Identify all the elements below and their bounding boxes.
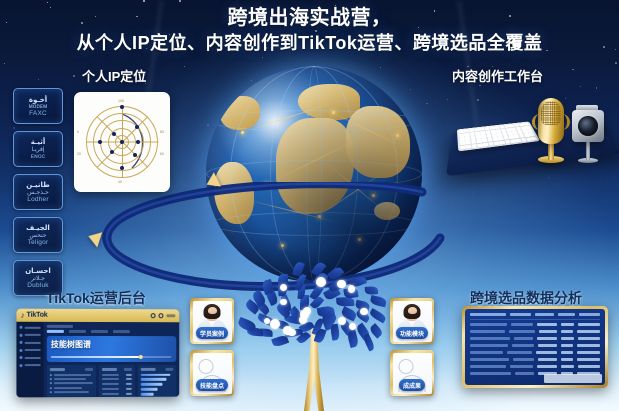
language-badge[interactable]: أثيـة إفريـا ᴇɴoᴄ <box>13 131 63 167</box>
portrait-card-label: 成成果 <box>399 379 425 391</box>
network-node <box>396 134 399 137</box>
radar-chart-card: 100806040200 <box>74 92 170 192</box>
column-header <box>558 313 575 316</box>
sidebar-item[interactable] <box>19 341 40 344</box>
stat-label <box>102 393 119 395</box>
sidebar-item[interactable] <box>19 333 40 336</box>
radar-spoke <box>87 142 123 143</box>
portrait-card-label: 功能模块 <box>396 327 428 339</box>
sidebar-item-label <box>25 341 41 343</box>
star <box>426 148 427 149</box>
tree-leaf <box>368 323 383 339</box>
panel-action[interactable] <box>124 368 132 371</box>
language-badge[interactable]: أخـوة ᴍᴏᴅᴇᴍ FAXC <box>13 88 63 124</box>
stat-row <box>102 373 132 375</box>
star <box>615 62 617 64</box>
badge-line-2: حـذجـس <box>27 189 49 196</box>
sidebar-bullet-icon <box>19 356 22 359</box>
list-item[interactable] <box>50 391 93 393</box>
table-row[interactable] <box>470 344 600 347</box>
radar-spoke <box>122 142 123 178</box>
portrait-hair <box>204 304 221 319</box>
tree-leaf <box>346 330 359 349</box>
caption-product-analytics: 跨境选品数据分析 <box>470 288 582 308</box>
dashboard-topbar: ♪ TikTok <box>16 309 179 323</box>
portrait-card-outcome[interactable]: 成成果 <box>390 350 434 396</box>
stat-row <box>102 393 132 395</box>
tab-item[interactable] <box>69 330 86 333</box>
bar-item <box>141 393 153 396</box>
bullet-icon <box>50 387 52 389</box>
sidebar-item[interactable] <box>19 348 40 351</box>
progress-fill <box>51 355 139 358</box>
star <box>73 75 75 77</box>
continent-asia <box>346 106 410 178</box>
network-link <box>266 136 365 185</box>
camera-pole <box>586 140 590 160</box>
bar-item <box>141 388 158 391</box>
star <box>184 66 185 67</box>
analytics-table <box>465 309 605 385</box>
panel-bar-chart <box>138 365 176 397</box>
bar-item <box>141 378 166 381</box>
radar-tick-label: 80 <box>160 130 164 134</box>
dashboard-content: 技能树图谱 <box>44 322 179 397</box>
stat-value <box>125 388 132 390</box>
caption-tiktok-backend: TikTok运营后台 <box>46 288 146 308</box>
panel-title <box>102 368 117 371</box>
skill-tree-illustration <box>248 272 380 411</box>
star <box>38 79 39 80</box>
tree-bloom <box>299 316 307 324</box>
portrait-frame: 学员案例 <box>193 301 232 342</box>
column-header <box>535 313 554 316</box>
list-item[interactable] <box>50 374 93 376</box>
panel-header <box>102 368 132 371</box>
star <box>262 57 263 58</box>
list-item-label <box>54 391 89 393</box>
column-header <box>470 313 506 316</box>
bar-item <box>141 373 171 376</box>
badge-line-3: ᴇɴoᴄ <box>31 153 45 160</box>
sidebar-item-label <box>25 334 41 336</box>
language-badge-column: أخـوة ᴍᴏᴅᴇᴍ FAXC أثيـة إفريـا ᴇɴoᴄ طانيـ… <box>13 88 63 303</box>
globe-parallel <box>210 110 418 132</box>
table-row[interactable] <box>470 330 600 333</box>
radar-spoke <box>123 142 159 143</box>
sidebar-bullet-icon <box>19 348 22 351</box>
badge-line-1: طانيـن <box>26 181 49 189</box>
badge-line-1: أخـوة <box>29 96 47 104</box>
tree-leaf <box>362 333 376 352</box>
sidebar-item-label <box>25 349 41 351</box>
panel-header <box>141 368 173 371</box>
bar-item <box>141 383 162 386</box>
portrait-card-skill-review[interactable]: 技能盘点 <box>190 350 234 396</box>
breadcrumb <box>47 325 73 328</box>
radar-tick-label: 20 <box>77 152 81 156</box>
portrait-frame: 成成果 <box>393 353 432 394</box>
column-header <box>579 313 600 316</box>
star <box>472 192 473 193</box>
skill-tree-banner: 技能树图谱 <box>47 336 176 362</box>
sidebar-item-label <box>25 357 41 359</box>
product-analytics-panel[interactable] <box>462 306 608 388</box>
badge-line-3: Lodher <box>27 196 48 203</box>
column-header <box>510 313 531 316</box>
panel-stats <box>99 365 135 397</box>
tiktok-logo-text: TikTok <box>27 312 48 319</box>
portrait-card-label: 技能盘点 <box>196 379 228 391</box>
list-item[interactable] <box>50 382 93 384</box>
music-note-icon: ♪ <box>20 311 24 319</box>
caption-content-studio: 内容创作工作台 <box>452 66 543 85</box>
panel-action[interactable] <box>85 368 93 371</box>
dashboard-body: 技能树图谱 <box>16 322 179 398</box>
badge-line-2: إفريـا <box>31 146 44 153</box>
network-node <box>332 111 335 114</box>
language-badge[interactable]: طانيـن حـذجـس Lodher <box>13 174 63 210</box>
gear-icon[interactable] <box>159 313 164 318</box>
title-line-1: 跨境出海实战营， <box>0 6 619 31</box>
keyboard-key[interactable] <box>472 144 478 148</box>
search-icon[interactable] <box>151 313 156 318</box>
tree-bloom <box>303 307 311 315</box>
stat-label <box>102 378 119 380</box>
badge-line-1: أثيـة <box>31 138 46 146</box>
account-chip[interactable] <box>166 314 175 317</box>
stat-value <box>125 383 132 385</box>
tree-leaf <box>368 308 387 323</box>
content-studio-illustration <box>452 84 612 184</box>
radar-point <box>98 140 102 144</box>
bullet-icon <box>50 374 52 376</box>
stat-row <box>102 378 132 380</box>
radar-point <box>120 166 124 170</box>
list-item-label <box>54 382 93 384</box>
star <box>179 0 181 2</box>
silhouette-head <box>399 359 414 374</box>
keyboard-key[interactable] <box>483 142 489 146</box>
radar-tick-label: 40 <box>118 180 122 184</box>
badge-line-2: حنحس <box>29 232 46 239</box>
continent-north-america <box>220 96 260 130</box>
sidebar-bullet-icon <box>19 333 22 336</box>
tree-bloom <box>264 318 270 324</box>
poster-canvas: 跨境出海实战营， 从个人IP定位、内容创作到TikTok运营、跨境选品全覆盖 <box>0 0 619 411</box>
list-item-label <box>54 378 86 380</box>
sidebar-bullet-icon <box>19 326 22 329</box>
tree-bloom <box>337 280 345 288</box>
portrait-card-label: 学员案例 <box>196 327 228 339</box>
panel-title <box>141 368 156 371</box>
portrait-card-student-case[interactable]: 学员案例 <box>190 298 234 344</box>
stat-label <box>102 388 119 390</box>
tab-item[interactable] <box>47 330 64 333</box>
badge-line-1: احسـان <box>25 267 51 275</box>
list-item-label <box>54 387 82 389</box>
tab-item[interactable] <box>91 330 108 333</box>
continent-europe <box>298 84 360 120</box>
table-header-row <box>470 313 600 320</box>
badge-line-3: FAXC <box>29 110 47 117</box>
bullet-icon <box>50 391 52 393</box>
stat-row <box>102 383 132 385</box>
panel-action[interactable] <box>165 368 173 370</box>
topbar-actions <box>151 313 176 318</box>
table-row[interactable] <box>470 323 600 326</box>
bullet-icon <box>50 378 52 380</box>
portrait-frame: 功能模块 <box>393 301 432 342</box>
stat-row <box>102 388 132 390</box>
tree-bloom <box>270 319 280 329</box>
keyboard-key[interactable] <box>460 145 465 149</box>
star <box>4 63 5 64</box>
star <box>615 177 617 179</box>
tree-leaf <box>337 297 355 307</box>
tree-leaf <box>271 335 289 349</box>
star <box>426 103 427 104</box>
title-line-2: 从个人IP定位、内容创作到TikTok运营、跨境选品全覆盖 <box>0 31 619 55</box>
sidebar-item[interactable] <box>19 326 40 329</box>
radar-tick-label: 60 <box>160 152 164 156</box>
microphone-grille <box>541 101 561 125</box>
badge-line-1: الجيـف <box>26 224 50 232</box>
radar-center-point <box>120 140 124 144</box>
language-badge[interactable]: الجيـف حنحس Teligor <box>13 217 63 253</box>
badge-line-2: جـلاتر <box>31 275 45 282</box>
table-row[interactable] <box>470 358 600 361</box>
tiktok-dashboard-mockup[interactable]: ♪ TikTok <box>16 309 179 398</box>
star <box>473 185 475 187</box>
keyboard-key[interactable] <box>531 136 537 140</box>
tab-item[interactable] <box>113 330 130 333</box>
progress-track[interactable] <box>51 355 172 358</box>
panel-title <box>50 368 65 371</box>
radar-point <box>133 153 137 157</box>
radar-tick-label: 0 <box>77 130 79 134</box>
stat-value <box>125 378 132 380</box>
table-row[interactable] <box>470 337 600 340</box>
star <box>572 69 573 70</box>
tree-bloom <box>349 323 356 330</box>
sidebar-bullet-icon <box>19 341 22 344</box>
network-link <box>242 102 334 133</box>
sidebar-item[interactable] <box>19 356 40 359</box>
network-node <box>241 131 244 134</box>
tiktok-logo[interactable]: ♪ TikTok <box>20 311 47 319</box>
panel-header <box>50 368 93 371</box>
radar-point <box>135 125 139 129</box>
star <box>143 0 144 1</box>
sidebar-item[interactable] <box>19 364 40 367</box>
stat-value <box>125 393 132 395</box>
portrait-card-feature-module[interactable]: 功能模块 <box>390 298 434 344</box>
table-row[interactable] <box>470 365 600 368</box>
table-footer-bar <box>544 374 602 383</box>
tree-bloom <box>283 326 292 335</box>
tree-leaf <box>261 279 274 295</box>
progress-knob[interactable] <box>139 354 143 358</box>
portrait-hair <box>404 304 421 319</box>
radar-spoke <box>122 106 123 142</box>
star <box>447 99 448 100</box>
tree-bloom <box>316 277 326 287</box>
silhouette-head <box>199 359 214 374</box>
star <box>47 2 48 3</box>
dashboard-sidebar <box>16 322 43 398</box>
stat-label <box>102 383 119 385</box>
keyboard-key[interactable] <box>466 144 471 148</box>
sidebar-item-label <box>25 326 41 328</box>
camera-lens <box>578 116 598 136</box>
badge-line-3: Teligor <box>28 239 49 246</box>
tree-bloom <box>280 299 287 306</box>
poster-title: 跨境出海实战营， 从个人IP定位、内容创作到TikTok运营、跨境选品全覆盖 <box>0 6 619 55</box>
stat-label <box>102 373 119 375</box>
list-item[interactable] <box>50 378 93 380</box>
dashboard-panels <box>47 365 176 397</box>
radar-tick-label: 100 <box>118 99 124 103</box>
banner-title: 技能树图谱 <box>51 339 173 350</box>
list-item[interactable] <box>50 387 93 389</box>
portrait-frame: 技能盘点 <box>193 353 232 394</box>
sidebar-bullet-icon <box>19 364 22 367</box>
list-item-label <box>54 374 91 376</box>
sidebar-item-label <box>25 364 41 366</box>
network-link <box>332 112 399 145</box>
panel-list <box>47 365 96 397</box>
stat-value <box>125 373 132 375</box>
table-row[interactable] <box>470 351 600 354</box>
bullet-icon <box>50 382 52 384</box>
caption-personal-ip: 个人IP定位 <box>82 66 146 85</box>
tree-leaf <box>330 324 341 341</box>
radar-point <box>136 140 140 144</box>
